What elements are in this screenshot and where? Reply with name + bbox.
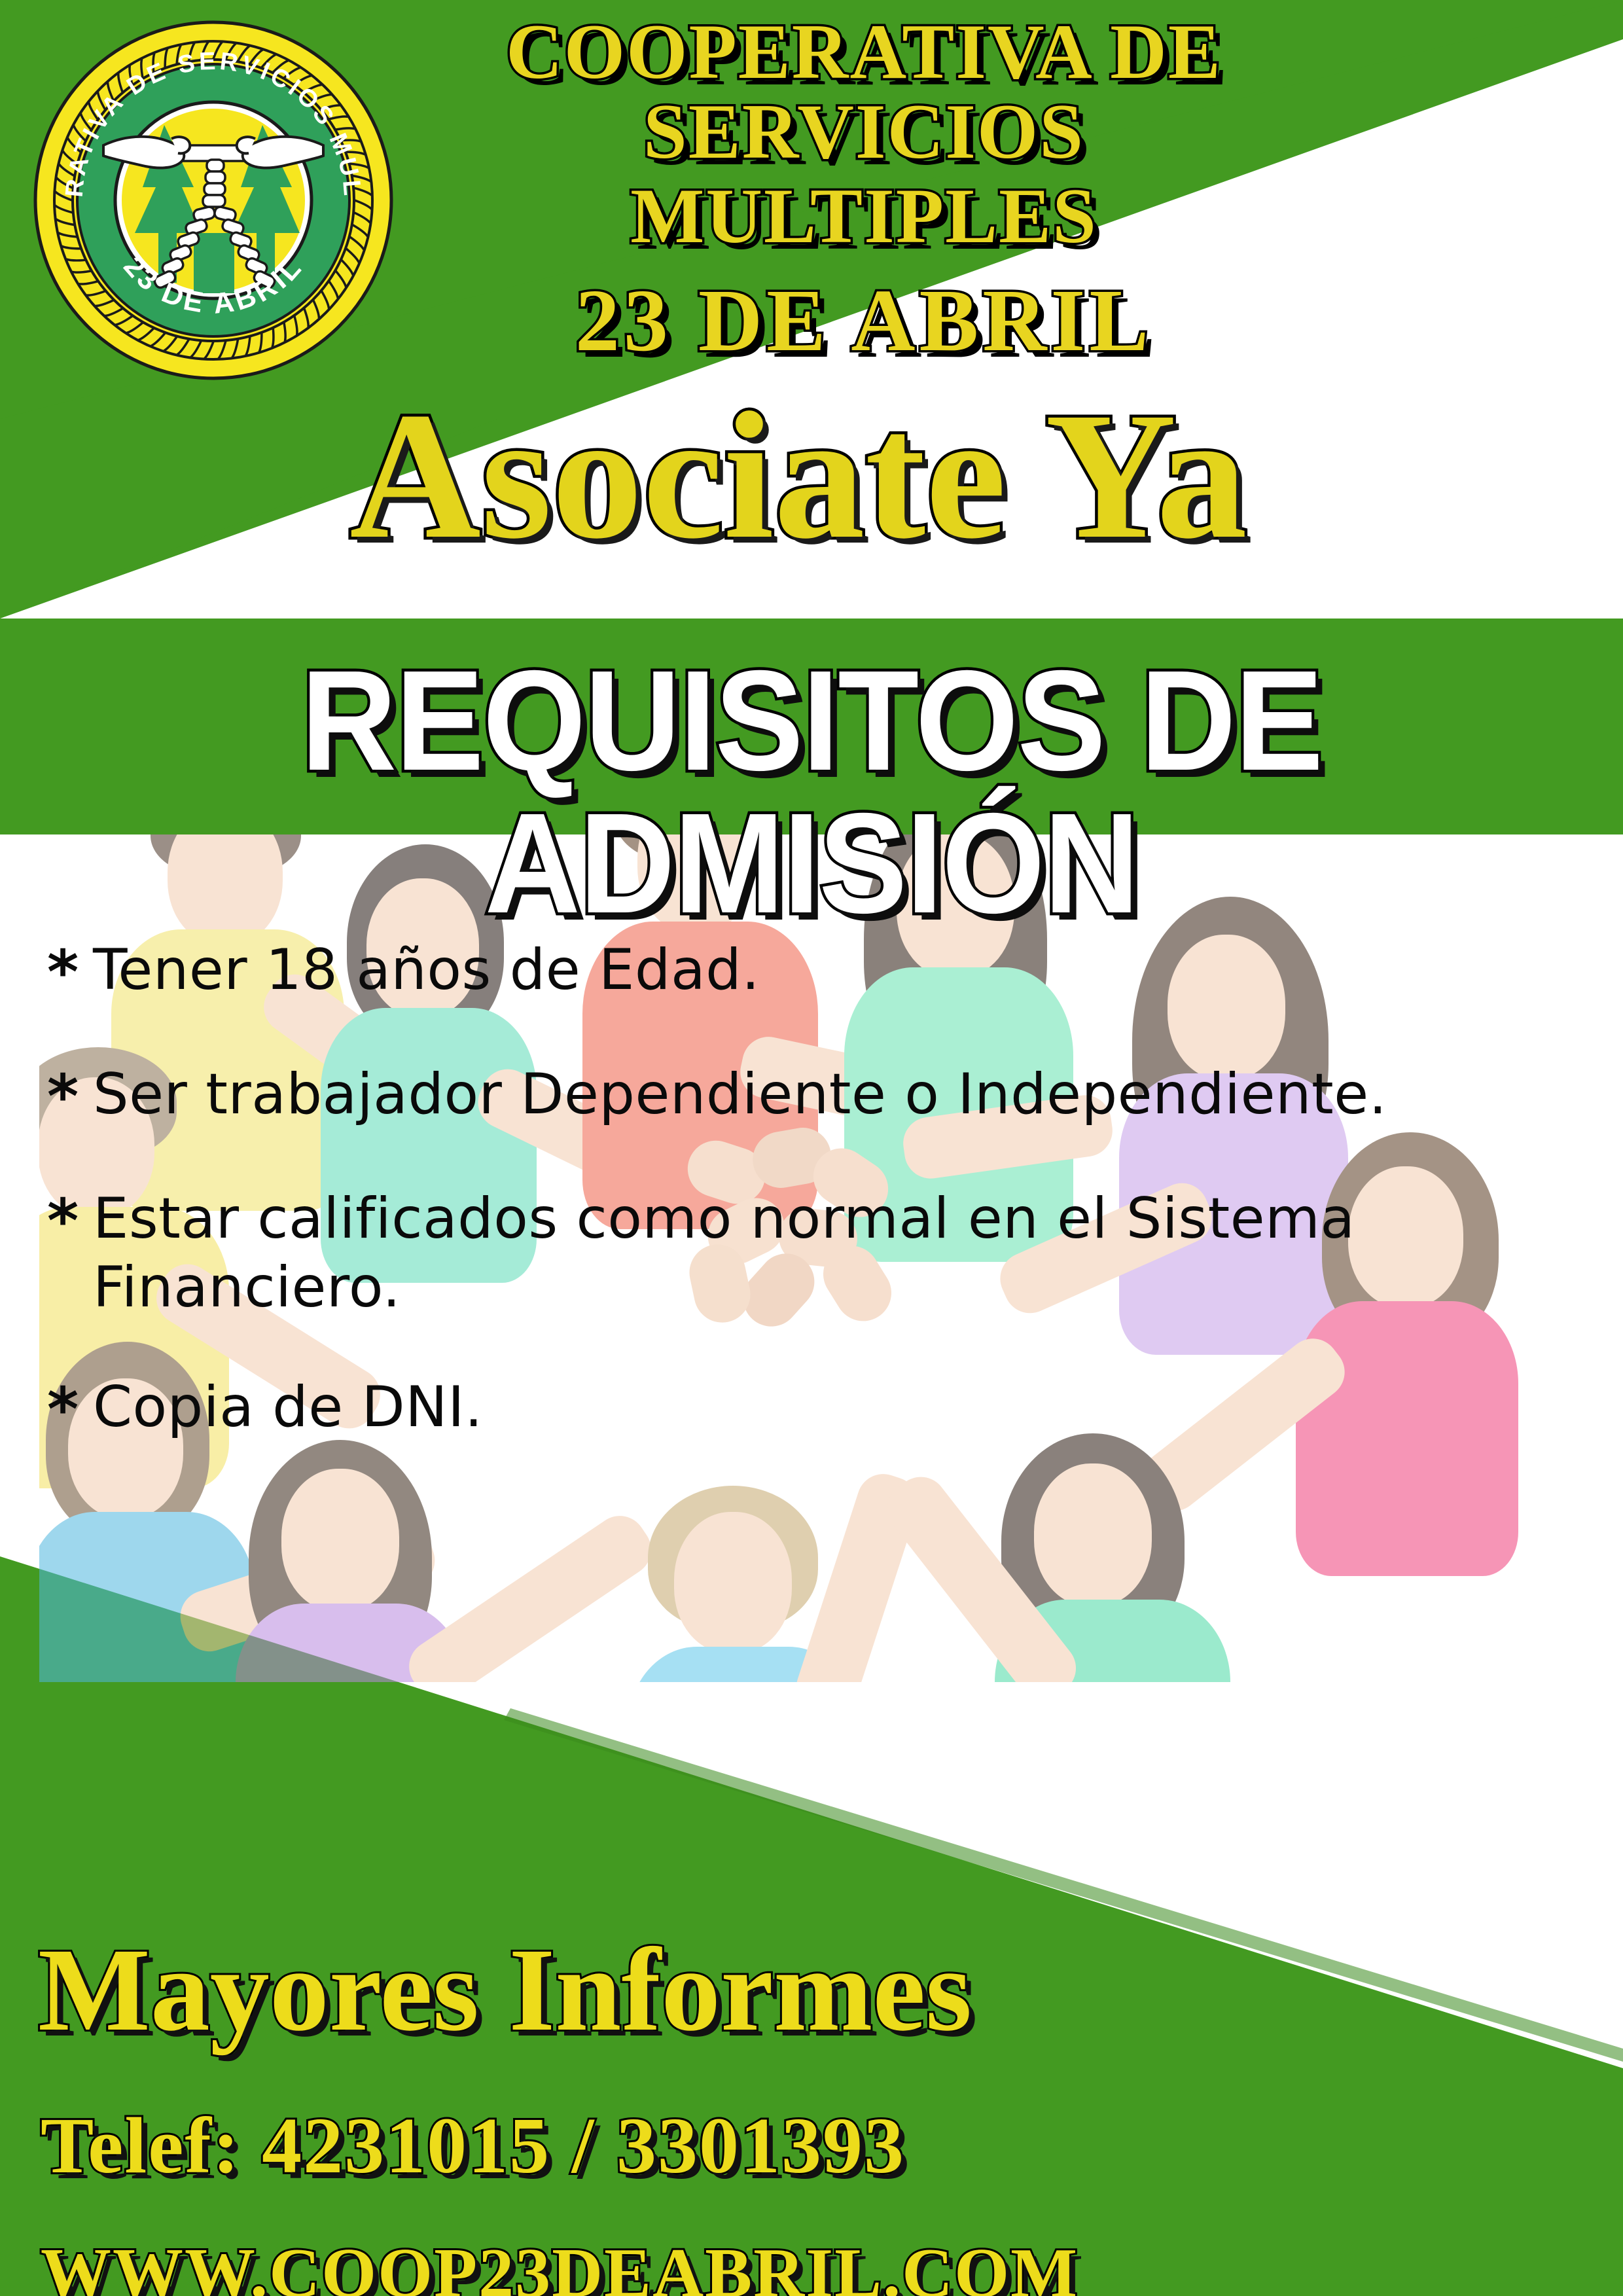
- requirement-text: Copia de DNI.: [93, 1373, 1539, 1442]
- contact-footer: Mayores Informes Telef: 4231015 / 330139…: [0, 1931, 1623, 2296]
- requirement-text: Estar calificados como normal en el Sist…: [93, 1185, 1539, 1322]
- bullet-marker: *: [47, 936, 93, 1009]
- footer-phone[interactable]: Telef: 4231015 / 3301393: [41, 2106, 1623, 2186]
- poster-root: COOPERATIVA DE SERVICIOS MULTIPLES 23 DE…: [0, 0, 1623, 2296]
- requirement-text: Tener 18 años de Edad.: [93, 936, 1539, 1005]
- logo-svg: COOPERATIVA DE SERVICIOS MULTIPLES 23 DE…: [30, 17, 397, 384]
- requirements-banner: REQUISITOS DE ADMISIÓN: [0, 619, 1623, 834]
- requirements-list: * Tener 18 años de Edad. * Ser trabajado…: [47, 936, 1539, 1498]
- footer-title: Mayores Informes: [38, 1931, 1623, 2050]
- footer-website[interactable]: WWW.COOP23DEABRIL.COM: [41, 2238, 1623, 2296]
- requirement-text: Ser trabajador Dependiente o Independien…: [93, 1060, 1539, 1129]
- bullet-marker: *: [47, 1373, 93, 1446]
- banner-title: REQUISITOS DE ADMISIÓN: [57, 650, 1566, 935]
- cooperative-logo: COOPERATIVA DE SERVICIOS MULTIPLES 23 DE…: [30, 17, 397, 384]
- main-headline: Asociate Ya: [0, 385, 1623, 567]
- list-item: * Ser trabajador Dependiente o Independi…: [47, 1060, 1539, 1134]
- list-item: * Estar calificados como normal en el Si…: [47, 1185, 1539, 1322]
- headline-text: Asociate Ya: [349, 385, 1274, 567]
- list-item: * Copia de DNI.: [47, 1373, 1539, 1446]
- list-item: * Tener 18 años de Edad.: [47, 936, 1539, 1009]
- header-title-block: COOPERATIVA DE SERVICIOS MULTIPLES 23 DE…: [366, 12, 1361, 367]
- header-line-1: COOPERATIVA DE SERVICIOS: [366, 12, 1361, 172]
- header-line-3: 23 DE ABRIL: [366, 276, 1361, 367]
- bullet-marker: *: [47, 1185, 93, 1258]
- bullet-marker: *: [47, 1060, 93, 1134]
- header-line-2: MULTIPLES: [366, 176, 1361, 256]
